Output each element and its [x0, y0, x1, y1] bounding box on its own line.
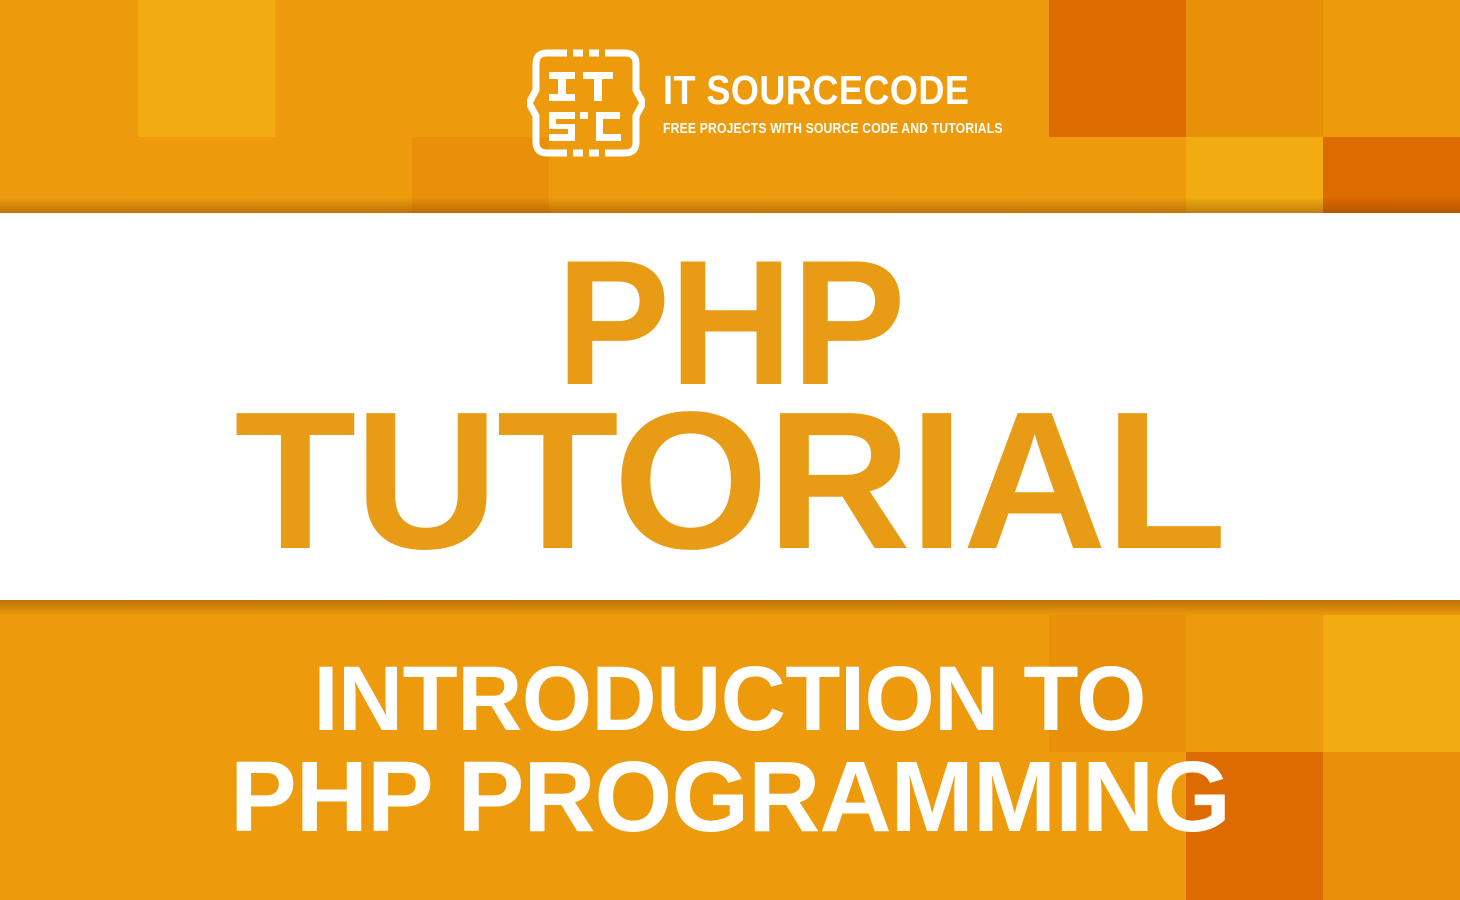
brand-tagline: FREE PROJECTS WITH SOURCE CODE AND TUTOR… — [663, 122, 1003, 137]
brand-text-block: IT SOURCECODE FREE PROJECTS WITH SOURCE … — [663, 70, 1067, 137]
subtitle-line-2: PHP PROGRAMMING — [230, 749, 1230, 845]
mosaic-tile — [1323, 137, 1460, 213]
subtitle-line-1: INTRODUCTION TO — [314, 655, 1146, 743]
brand-name: IT SOURCECODE — [663, 70, 1019, 111]
mosaic-tile — [1186, 137, 1323, 213]
mosaic-tile — [1186, 0, 1323, 137]
main-title-area: PHP TUTORIAL — [0, 213, 1460, 600]
itsc-bracket-logo-icon — [527, 48, 645, 158]
page-title-line-2: TUTORIAL — [235, 391, 1226, 571]
footer-band: INTRODUCTION TO PHP PROGRAMMING — [0, 600, 1460, 900]
subtitle-area: INTRODUCTION TO PHP PROGRAMMING — [0, 600, 1460, 900]
brand-logo-lockup[interactable]: IT SOURCECODE FREE PROJECTS WITH SOURCE … — [527, 48, 1067, 158]
slide-canvas: IT SOURCECODE FREE PROJECTS WITH SOURCE … — [0, 0, 1460, 900]
mosaic-tile — [1049, 0, 1186, 137]
mosaic-tile — [138, 0, 275, 137]
